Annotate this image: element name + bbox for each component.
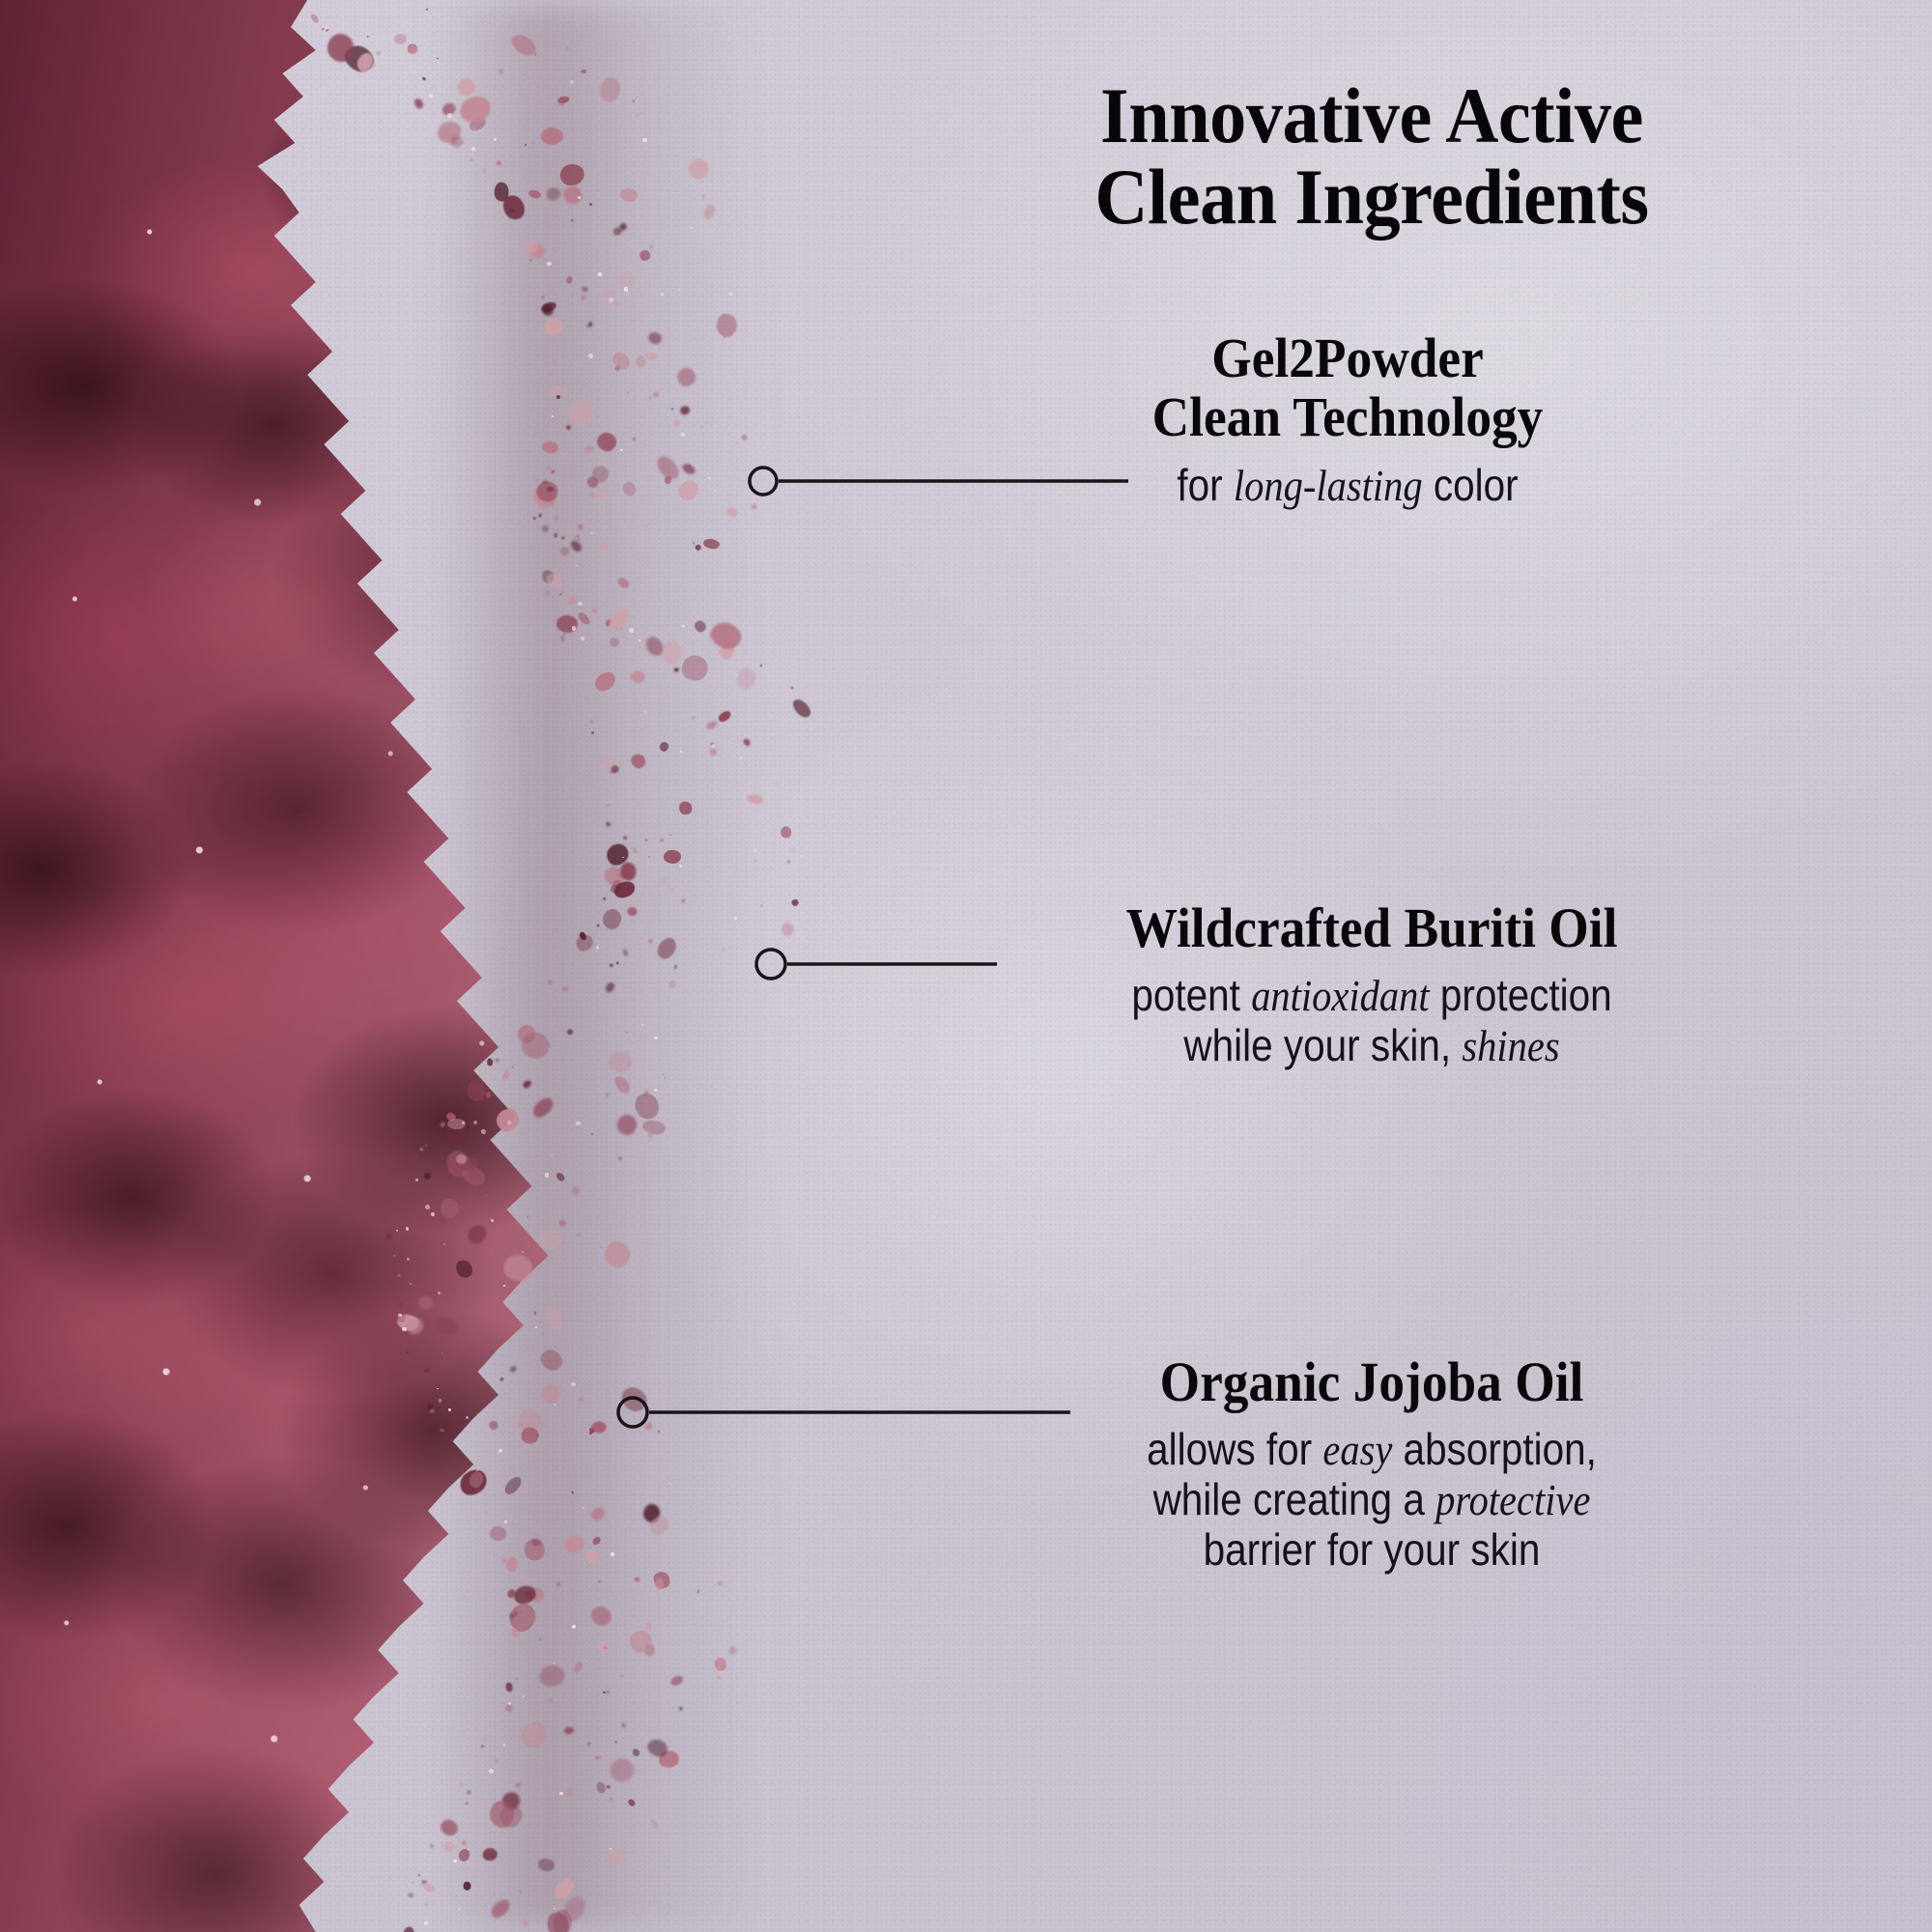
callout-2-heading: Wildcrafted Buriti Oil bbox=[900, 898, 1842, 957]
callout-3-body-line-3: barrier for your skin bbox=[922, 1525, 1823, 1576]
callout-3-body-l2-emphasis: protective bbox=[1435, 1475, 1590, 1524]
title-line-1: Innovative Active bbox=[887, 75, 1857, 156]
callout-2-heading-line-1: Wildcrafted Buriti Oil bbox=[900, 898, 1842, 957]
callout-2-body-l1-emphasis: antioxidant bbox=[1251, 971, 1429, 1020]
callout-buriti-oil: Wildcrafted Buriti Oil potent antioxidan… bbox=[860, 898, 1932, 1071]
callout-3-body-line-1: allows for easy absorption, bbox=[922, 1425, 1823, 1475]
callout-2-body-l1-pre: potent bbox=[1131, 970, 1251, 1020]
callout-gel2powder: Gel2Powder Clean Technology for long-las… bbox=[860, 328, 1932, 510]
callout-2-body-l2-pre: while your skin, bbox=[1183, 1020, 1462, 1070]
callout-2-body-l1-post: protection bbox=[1430, 970, 1612, 1020]
callout-1-heading: Gel2Powder Clean Technology bbox=[898, 328, 1796, 447]
callout-3-body-l1-emphasis: easy bbox=[1322, 1425, 1392, 1474]
callout-1-body: for long-lasting color bbox=[919, 461, 1777, 511]
callout-1-heading-line-2: Clean Technology bbox=[898, 387, 1796, 446]
callout-3-heading: Organic Jojoba Oil bbox=[900, 1352, 1842, 1411]
powder-crumbs bbox=[0, 0, 869, 1932]
callout-1-body-post: color bbox=[1423, 460, 1519, 510]
callout-jojoba-oil: Organic Jojoba Oil allows for easy absor… bbox=[860, 1352, 1932, 1575]
callout-3-heading-line-1: Organic Jojoba Oil bbox=[900, 1352, 1842, 1411]
callout-3-body: allows for easy absorption, while creati… bbox=[922, 1425, 1823, 1575]
callout-3-body-line-2: while creating a protective bbox=[922, 1475, 1823, 1525]
callout-1-body-emphasis: long-lasting bbox=[1234, 461, 1423, 510]
powder-swatch-photo bbox=[0, 0, 831, 1932]
callout-3-body-l1-pre: allows for bbox=[1147, 1424, 1322, 1474]
callout-1-body-pre: for bbox=[1177, 460, 1233, 510]
callout-1-body-line-1: for long-lasting color bbox=[919, 461, 1777, 511]
page-title: Innovative Active Clean Ingredients bbox=[887, 75, 1857, 237]
callout-3-body-l1-post: absorption, bbox=[1392, 1424, 1597, 1474]
callout-2-body-l2-emphasis: shines bbox=[1462, 1021, 1559, 1070]
callout-3-body-l2-pre: while creating a bbox=[1153, 1474, 1436, 1524]
callout-2-body: potent antioxidant protection while your… bbox=[922, 971, 1823, 1070]
infographic-canvas: Innovative Active Clean Ingredients Gel2… bbox=[0, 0, 1932, 1932]
title-line-2: Clean Ingredients bbox=[887, 156, 1857, 238]
callout-1-heading-line-1: Gel2Powder bbox=[898, 328, 1796, 387]
content-column: Innovative Active Clean Ingredients Gel2… bbox=[850, 0, 1932, 1932]
callout-2-body-line-1: potent antioxidant protection bbox=[922, 971, 1823, 1021]
callout-2-body-line-2: while your skin, shines bbox=[922, 1021, 1823, 1071]
